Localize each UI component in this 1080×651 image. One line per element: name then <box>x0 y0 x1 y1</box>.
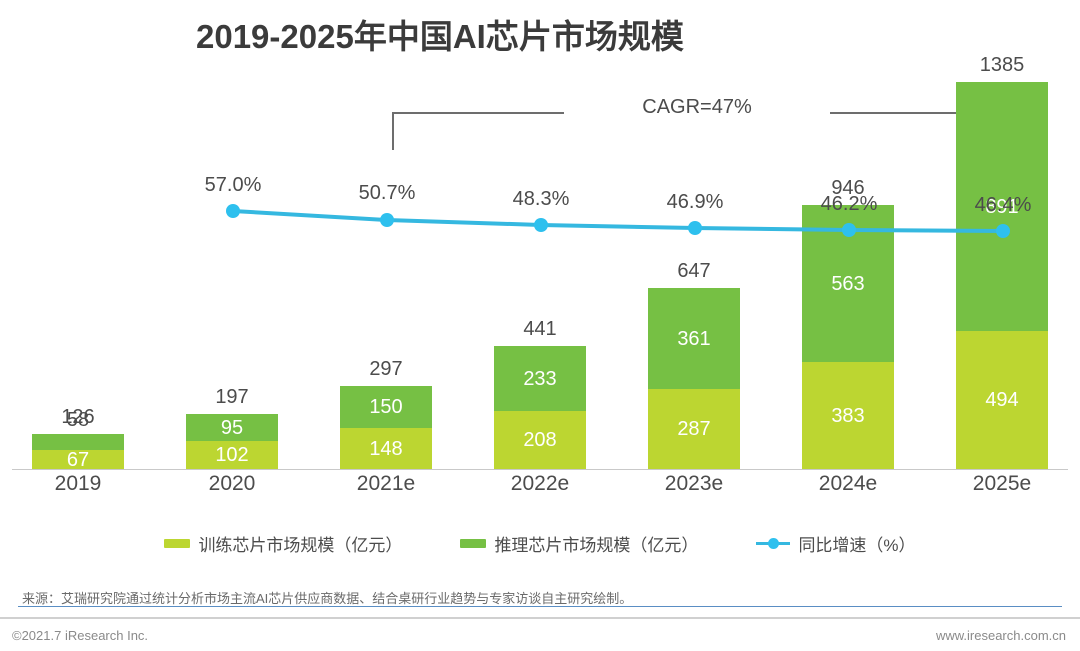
bar-segment-value: 891 <box>985 197 1018 217</box>
bar-segment-training[interactable]: 148 <box>340 428 432 469</box>
bar-segment-value: 150 <box>369 397 402 417</box>
legend-swatch-icon <box>164 539 190 548</box>
bar-segment-training[interactable]: 494 <box>956 331 1048 469</box>
bar-segment-value: 233 <box>523 369 556 389</box>
bar-group-2021e[interactable]: 297 150 148 <box>340 386 432 469</box>
bar-group-2023e[interactable]: 647 361 287 <box>648 288 740 469</box>
bar-segment-value: 67 <box>67 450 89 470</box>
legend-item-label: 推理芯片市场规模（亿元） <box>494 531 698 556</box>
bar-group-2025e[interactable]: 1385 891 494 <box>956 82 1048 469</box>
chart-legend: 训练芯片市场规模（亿元） 推理芯片市场规模（亿元） 同比增速（%） <box>0 528 1080 558</box>
bar-total-label: 197 <box>186 386 278 409</box>
bar-segment-training[interactable]: 287 <box>648 389 740 469</box>
cagr-bracket-left-line <box>392 112 564 114</box>
bar-segment-training[interactable]: 208 <box>494 411 586 469</box>
category-axis: 2019 2020 2021e 2022e 2023e 2024e 2025e <box>0 472 1080 506</box>
bar-segment-inference[interactable]: 233 <box>494 346 586 411</box>
bar-total-label: 647 <box>648 260 740 283</box>
footer-website[interactable]: www.iresearch.com.cn <box>936 628 1066 643</box>
bar-segment-value: 383 <box>831 406 864 426</box>
legend-item-training[interactable]: 训练芯片市场规模（亿元） <box>164 531 402 556</box>
bar-total-label: 441 <box>494 318 586 341</box>
bar-segment-inference[interactable]: 95 <box>186 414 278 441</box>
legend-swatch-icon <box>460 539 486 548</box>
bar-segment-value: 102 <box>215 445 248 465</box>
cagr-bracket-left-tick <box>392 112 394 150</box>
bar-segment-training[interactable]: 383 <box>802 362 894 469</box>
cat-label-2019: 2019 <box>18 472 138 496</box>
bar-segment-inference[interactable]: 361 <box>648 288 740 389</box>
cagr-label: CAGR=47% <box>567 96 827 119</box>
legend-item-growth-rate[interactable]: 同比增速（%） <box>756 531 915 556</box>
cat-label-2020: 2020 <box>172 472 292 496</box>
bar-segment-inference[interactable]: 891 <box>956 82 1048 331</box>
cat-label-2021e: 2021e <box>326 472 446 496</box>
legend-item-label: 同比增速（%） <box>798 531 915 556</box>
footer-copyright: ©2021.7 iResearch Inc. <box>12 628 148 643</box>
bar-segment-inference[interactable]: 58 <box>32 434 124 450</box>
cat-label-2023e: 2023e <box>634 472 754 496</box>
legend-item-label: 训练芯片市场规模（亿元） <box>198 531 402 556</box>
bar-segment-value: 494 <box>985 390 1018 410</box>
legend-item-inference[interactable]: 推理芯片市场规模（亿元） <box>460 531 698 556</box>
bar-total-label: 297 <box>340 358 432 381</box>
footer-divider <box>0 617 1080 619</box>
bar-segment-value: 58 <box>32 410 124 430</box>
bar-group-2022e[interactable]: 441 233 208 <box>494 346 586 469</box>
bar-segment-value: 148 <box>369 439 402 459</box>
cat-label-2022e: 2022e <box>480 472 600 496</box>
bar-segment-inference[interactable]: 563 <box>802 205 894 362</box>
bar-segment-value: 208 <box>523 430 556 450</box>
cat-label-2024e: 2024e <box>788 472 908 496</box>
bar-segment-value: 95 <box>221 418 243 438</box>
source-divider <box>18 606 1062 607</box>
x-axis-line <box>12 469 1068 470</box>
bar-segment-value: 563 <box>831 274 864 294</box>
bar-segment-training[interactable]: 102 <box>186 441 278 469</box>
bar-group-2024e[interactable]: 946 563 383 <box>802 205 894 469</box>
legend-line-marker-icon <box>756 537 790 549</box>
bar-segment-inference[interactable]: 150 <box>340 386 432 428</box>
page-title: 2019-2025年中国AI芯片市场规模 <box>196 10 684 58</box>
bar-segment-value: 361 <box>677 329 710 349</box>
chart-page: 2019-2025年中国AI芯片市场规模 CAGR=47% 126 58 67 … <box>0 0 1080 651</box>
bar-group-2019[interactable]: 126 58 67 <box>32 434 124 469</box>
bar-segment-value: 287 <box>677 419 710 439</box>
bar-total-label: 946 <box>802 177 894 200</box>
bar-total-label: 1385 <box>956 54 1048 77</box>
source-note: 来源：艾瑞研究院通过统计分析市场主流AI芯片供应商数据、结合桌研行业趋势与专家访… <box>22 588 632 607</box>
bar-group-2020[interactable]: 197 95 102 <box>186 414 278 469</box>
cat-label-2025e: 2025e <box>942 472 1062 496</box>
cagr-bracket: CAGR=47% <box>392 112 999 150</box>
plot-area: CAGR=47% 126 58 67 197 95 102 297 <box>0 80 1080 470</box>
bar-segment-training[interactable]: 67 <box>32 450 124 469</box>
